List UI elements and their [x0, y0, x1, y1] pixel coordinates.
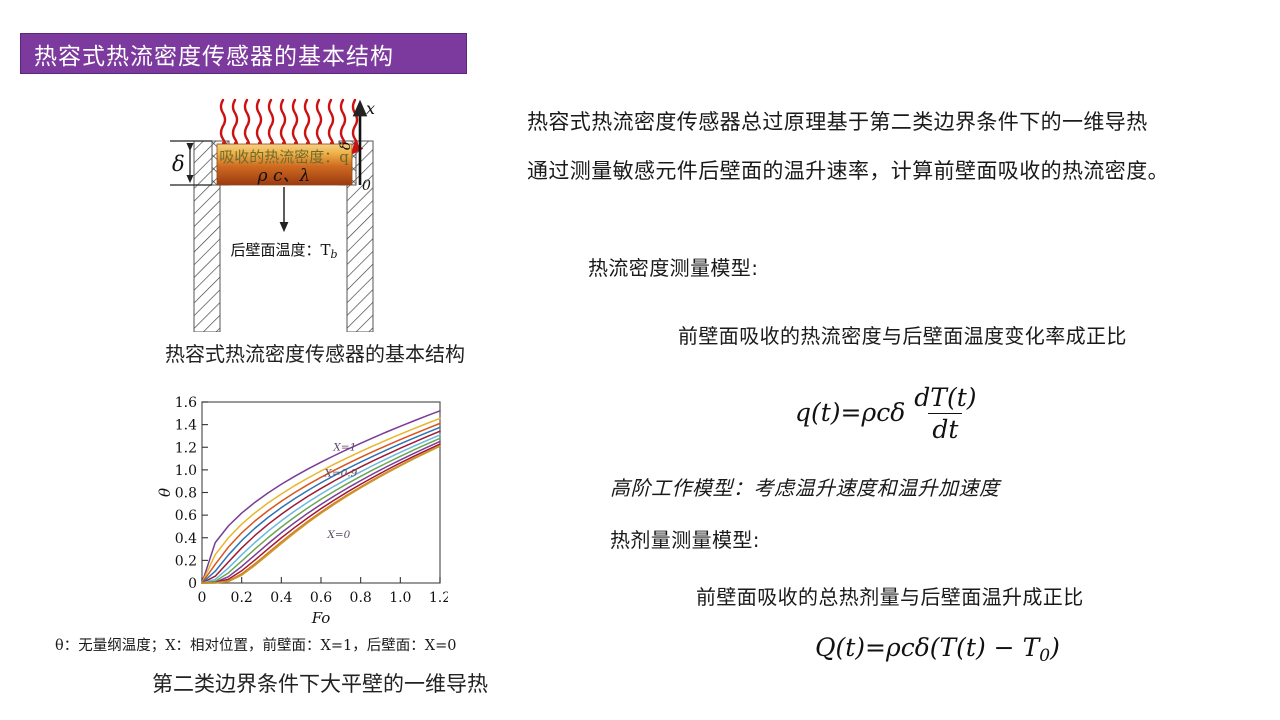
chart-caption: 第二类边界条件下大平壁的一维导热: [70, 668, 570, 698]
sensor-structure-diagram: δ x δ 0 吸收的热流密度：q ρ c、λ 后壁面温度：Tb: [150, 92, 480, 332]
formula-q-coefficient: ρcδ: [862, 398, 906, 427]
back-wall-temperature-label: 后壁面温度：Tb: [230, 241, 337, 261]
temperature-response-chart: 00.20.40.60.81.01.200.20.40.60.81.01.21.…: [158, 392, 448, 627]
chart-ytick-label: 0.4: [175, 531, 197, 547]
chart-xtick-label: 0.8: [350, 590, 372, 606]
chart-annotation: X=1: [332, 442, 356, 454]
chart-svg: 00.20.40.60.81.01.200.20.40.60.81.01.21.…: [158, 392, 448, 627]
chart-xlabel: Fo: [311, 609, 331, 627]
chart-xtick-label: 0.2: [231, 590, 253, 606]
material-properties-label: ρ c、λ: [257, 166, 311, 186]
chart-xtick-label: 1.2: [429, 590, 448, 606]
formula-Q-main: Q(t)=ρcδ(T(t) − T: [815, 633, 1039, 662]
heat-flux-formula: q(t)=ρcδ dT(t) dt: [795, 382, 981, 443]
chart-ytick-label: 1.6: [175, 395, 197, 411]
intro-line-2: 通过测量敏感元件后壁面的温升速率，计算前壁面吸收的热流密度。: [527, 155, 1169, 185]
heat-dose-model-description: 前壁面吸收的总热剂量与后壁面温升成正比: [696, 581, 1084, 610]
intro-line-1: 热容式热流密度传感器总过原理基于第二类边界条件下的一维导热: [527, 106, 1148, 136]
formula-q-numerator: dT(t): [910, 383, 980, 413]
x-axis-label: x: [366, 99, 375, 118]
thickness-symbol-left: δ: [172, 152, 185, 176]
chart-ytick-label: 0: [188, 576, 197, 592]
chart-xtick-label: 0: [198, 590, 207, 606]
absorbed-flux-label: 吸收的热流密度：q: [219, 148, 349, 166]
chart-ytick-label: 1.2: [175, 440, 197, 456]
heat-flux-model-description: 前壁面吸收的热流密度与后壁面温度变化率成正比: [678, 320, 1127, 349]
slide-root: 热容式热流密度传感器的基本结构: [0, 0, 1280, 720]
formula-q-denominator: dt: [928, 413, 962, 444]
heat-dose-model-title: 热剂量测量模型:: [610, 524, 760, 553]
chart-ytick-label: 1.4: [175, 418, 197, 434]
heat-dose-formula: Q(t)=ρcδ(T(t) − T0): [815, 633, 1060, 666]
chart-ytick-label: 0.8: [175, 486, 197, 502]
formula-Q-subscript: 0: [1039, 646, 1050, 666]
chart-xtick-label: 1.0: [389, 590, 411, 606]
chart-ylabel: θ: [158, 488, 174, 497]
chart-annotation: X=0: [326, 529, 350, 541]
chart-ytick-label: 1.0: [175, 463, 197, 479]
incident-heat-flux-arrows: [221, 100, 357, 150]
chart-ytick-label: 0.6: [175, 508, 197, 524]
formula-Q-close: ): [1050, 633, 1060, 662]
formula-q-fraction: dT(t) dt: [910, 383, 980, 444]
chart-xtick-label: 0.4: [270, 590, 292, 606]
chart-ytick-label: 0.2: [175, 553, 197, 569]
page-title: 热容式热流密度传感器的基本结构: [21, 37, 394, 71]
chart-xtick-label: 0.6: [310, 590, 332, 606]
origin-label: 0: [362, 178, 371, 194]
chart-symbol-note: θ：无量纲温度；X：相对位置，前壁面：X=1，后壁面：X=0: [55, 634, 595, 655]
formula-q-lhs: q(t)=: [795, 398, 862, 427]
heat-flux-model-title: 热流密度测量模型:: [588, 252, 758, 281]
sensor-diagram-svg: δ x δ 0 吸收的热流密度：q ρ c、λ 后壁面温度：Tb: [150, 92, 480, 332]
chart-plot-frame: [202, 402, 440, 583]
chart-annotation: X=0.9: [323, 468, 357, 480]
high-order-model-line: 高阶工作模型：考虑温升速度和温升加速度: [610, 472, 1000, 501]
slide-title-banner: 热容式热流密度传感器的基本结构: [20, 33, 467, 74]
diagram-caption: 热容式热流密度传感器的基本结构: [100, 338, 530, 367]
